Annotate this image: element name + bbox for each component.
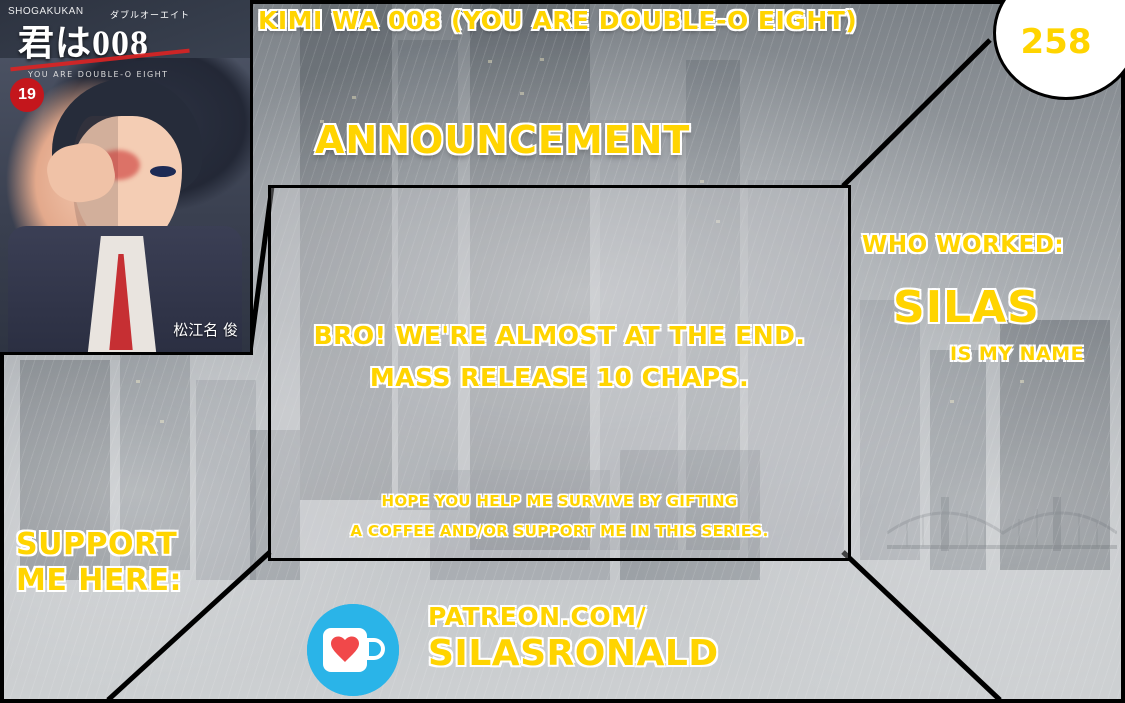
volume-cover-thumbnail: SHOGAKUKAN ダブルオーエイト 君は008 YOU ARE DOUBLE… [0, 0, 253, 355]
cover-author: 松江名 俊 [173, 319, 238, 340]
announcement-small-line-2: A COFFEE AND/OR SUPPORT ME IN THIS SERIE… [271, 522, 848, 540]
announcement-line-2: MASS RELEASE 10 CHAPS. [271, 363, 848, 392]
translator-name: SILAS [893, 282, 1040, 333]
announcement-title: ANNOUNCEMENT [315, 118, 690, 162]
support-label-line-2: ME HERE: [16, 563, 182, 598]
announcement-line-1: BRO! WE'RE ALMOST AT THE END. [271, 321, 848, 350]
announcement-box: BRO! WE'RE ALMOST AT THE END. MASS RELEA… [268, 185, 851, 561]
who-worked-label: WHO WORKED: [862, 232, 1064, 258]
patreon-icon-glyph [307, 604, 399, 696]
translator-tagline: IS MY NAME [950, 343, 1084, 365]
manga-announcement-page: SHOGAKUKAN ダブルオーエイト 君は008 YOU ARE DOUBLE… [0, 0, 1125, 703]
chapter-number: 258 [1001, 22, 1111, 62]
patreon-cup-heart-icon[interactable] [307, 604, 399, 696]
cover-subtitle: YOU ARE DOUBLE-O EIGHT [28, 70, 169, 79]
volume-number-badge: 19 [10, 78, 44, 112]
announcement-small-line-1: HOPE YOU HELP ME SURVIVE BY GIFTING [271, 492, 848, 510]
patreon-url-line-1[interactable]: PATREON.COM/ [428, 602, 646, 631]
series-title: KIMI WA 008 (YOU ARE DOUBLE-O EIGHT) [258, 6, 857, 35]
patreon-url-line-2[interactable]: SILASRONALD [428, 633, 719, 674]
support-label-line-1: SUPPORT [16, 527, 177, 562]
